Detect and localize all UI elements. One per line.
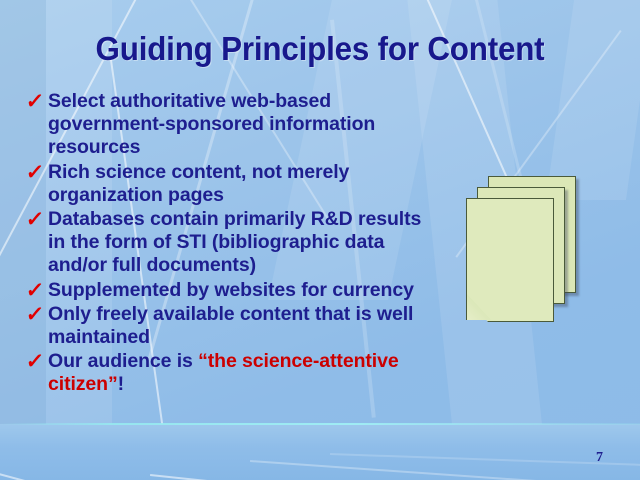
check-icon: ✓ xyxy=(25,90,49,113)
bg-ground-line-4 xyxy=(250,460,640,480)
document-stack-icon xyxy=(466,176,596,331)
check-icon: ✓ xyxy=(25,303,49,326)
list-item: ✓ Only freely available content that is … xyxy=(26,303,426,349)
list-item-label: Select authoritative web-based governmen… xyxy=(48,90,426,160)
check-icon: ✓ xyxy=(25,279,49,302)
bullet-list: ✓ Select authoritative web-based governm… xyxy=(26,90,426,398)
check-icon: ✓ xyxy=(25,161,49,184)
page-title: Guiding Principles for Content xyxy=(16,30,624,68)
list-item-label: Rich science content, not merely organiz… xyxy=(48,161,426,207)
bg-horizon-band xyxy=(0,424,640,480)
list-item-label: Only freely available content that is we… xyxy=(48,303,426,349)
list-item-emphasis: ✓ Our audience is “the science-attentive… xyxy=(26,350,426,396)
list-item: ✓ Rich science content, not merely organ… xyxy=(26,161,426,207)
list-item: ✓ Supplemented by websites for currency xyxy=(26,279,426,302)
bg-ground-line-3 xyxy=(150,474,640,480)
check-icon: ✓ xyxy=(25,208,49,231)
list-item-text-before: Our audience is xyxy=(48,350,198,372)
list-item-label: Databases contain primarily R&D results … xyxy=(48,208,426,278)
list-item-text-after: ! xyxy=(118,373,124,395)
bg-horizon-edge xyxy=(0,423,640,425)
check-icon: ✓ xyxy=(25,350,49,373)
slide: Guiding Principles for Content ✓ Select … xyxy=(0,0,640,480)
list-item-label: Our audience is “the science-attentive c… xyxy=(48,350,426,396)
bg-ground-line-1 xyxy=(0,468,309,480)
list-item-label: Supplemented by websites for currency xyxy=(48,279,426,302)
bg-ground-line-5 xyxy=(330,453,640,467)
slide-number: 7 xyxy=(596,450,603,466)
list-item: ✓ Databases contain primarily R&D result… xyxy=(26,208,426,278)
list-item: ✓ Select authoritative web-based governm… xyxy=(26,90,426,160)
document-page-front xyxy=(466,198,554,322)
